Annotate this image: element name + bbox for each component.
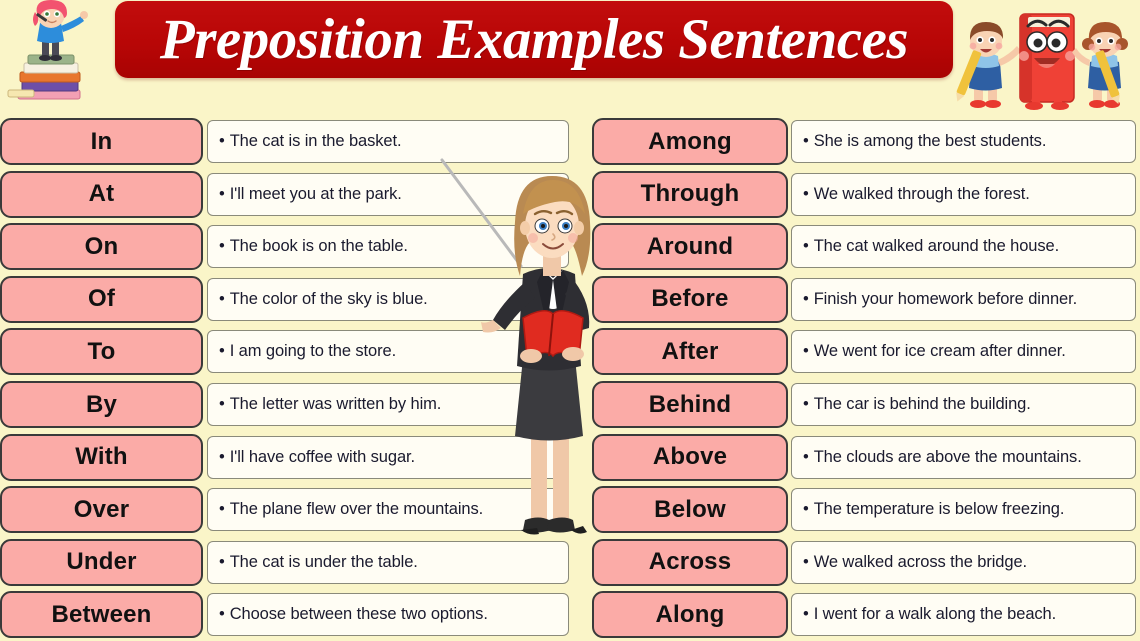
preposition-chip-after[interactable]: After — [592, 328, 788, 375]
preposition-chip-across[interactable]: Across — [592, 539, 788, 586]
example-box: •We walked across the bridge. — [791, 541, 1136, 584]
preposition-row: Before•Finish your homework before dinne… — [570, 276, 1140, 323]
preposition-label: Below — [654, 496, 726, 524]
preposition-chip-under[interactable]: Under — [0, 539, 203, 586]
kid-on-books-icon — [4, 2, 116, 112]
book-mascot-with-kids-icon — [952, 0, 1140, 112]
example-sentence-text: The cat is in the basket. — [230, 132, 402, 150]
preposition-row: To•I am going to the store. — [0, 328, 570, 375]
preposition-label: By — [86, 391, 117, 419]
example-sentence-text: We walked across the bridge. — [814, 553, 1027, 571]
bullet-icon: • — [803, 553, 809, 571]
preposition-label: Before — [651, 285, 728, 313]
example-sentence: •The letter was written by him. — [208, 395, 441, 414]
preposition-chip-at[interactable]: At — [0, 171, 203, 218]
bullet-icon: • — [219, 605, 225, 623]
example-sentence: •Choose between these two options. — [208, 605, 488, 624]
example-sentence-text: I'll have coffee with sugar. — [230, 448, 415, 466]
example-sentence-text: The temperature is below freezing. — [814, 500, 1065, 518]
bullet-icon: • — [803, 132, 809, 150]
example-sentence-text: I went for a walk along the beach. — [814, 605, 1056, 623]
title-banner: Preposition Examples Sentences — [115, 1, 953, 78]
example-box: •The cat is in the basket. — [207, 120, 569, 163]
bullet-icon: • — [219, 448, 225, 466]
preposition-label: On — [85, 233, 119, 261]
bullet-icon: • — [803, 237, 809, 255]
example-box: •The cat is under the table. — [207, 541, 569, 584]
example-sentence-text: I am going to the store. — [230, 342, 396, 360]
preposition-row: On•The book is on the table. — [0, 223, 570, 270]
preposition-chip-to[interactable]: To — [0, 328, 203, 375]
example-sentence: •The color of the sky is blue. — [208, 290, 428, 309]
preposition-row: By•The letter was written by him. — [0, 381, 570, 428]
bullet-icon: • — [219, 132, 225, 150]
example-sentence: •I am going to the store. — [208, 342, 396, 361]
preposition-label: After — [661, 338, 718, 366]
preposition-label: At — [89, 180, 115, 208]
bullet-icon: • — [803, 500, 809, 518]
preposition-label: Along — [656, 601, 725, 629]
preposition-label: With — [75, 443, 128, 471]
example-box: •The letter was written by him. — [207, 383, 569, 426]
example-sentence-text: We went for ice cream after dinner. — [814, 342, 1066, 360]
bullet-icon: • — [803, 448, 809, 466]
preposition-chip-on[interactable]: On — [0, 223, 203, 270]
preposition-label: Between — [51, 601, 151, 629]
preposition-row: Through•We walked through the forest. — [570, 171, 1140, 218]
example-sentence-text: The cat walked around the house. — [814, 237, 1059, 255]
example-sentence: •The cat is in the basket. — [208, 132, 401, 151]
example-sentence-text: The plane flew over the mountains. — [230, 500, 483, 518]
preposition-chip-above[interactable]: Above — [592, 434, 788, 481]
preposition-chip-along[interactable]: Along — [592, 591, 788, 638]
bullet-icon: • — [219, 395, 225, 413]
preposition-chip-around[interactable]: Around — [592, 223, 788, 270]
bullet-icon: • — [803, 605, 809, 623]
example-sentence: •I went for a walk along the beach. — [792, 605, 1056, 624]
page-title: Preposition Examples Sentences — [160, 7, 908, 72]
example-box: •I'll have coffee with sugar. — [207, 436, 569, 479]
example-box: •Choose between these two options. — [207, 593, 569, 636]
preposition-label: Around — [647, 233, 734, 261]
preposition-chip-through[interactable]: Through — [592, 171, 788, 218]
example-sentence-text: Finish your homework before dinner. — [814, 290, 1077, 308]
example-box: •The book is on the table. — [207, 225, 569, 268]
preposition-label: Through — [641, 180, 740, 208]
preposition-row: Around•The cat walked around the house. — [570, 223, 1140, 270]
example-sentence-text: I'll meet you at the park. — [230, 185, 402, 203]
preposition-row: Below•The temperature is below freezing. — [570, 486, 1140, 533]
example-sentence-text: The letter was written by him. — [230, 395, 442, 413]
example-box: •She is among the best students. — [791, 120, 1136, 163]
preposition-label: Behind — [649, 391, 732, 419]
example-sentence: •The car is behind the building. — [792, 395, 1031, 414]
bullet-icon: • — [219, 553, 225, 571]
preposition-row: Along•I went for a walk along the beach. — [570, 591, 1140, 638]
example-box: •We walked through the forest. — [791, 173, 1136, 216]
preposition-row: After•We went for ice cream after dinner… — [570, 328, 1140, 375]
example-box: •I am going to the store. — [207, 330, 569, 373]
preposition-row: Above•The clouds are above the mountains… — [570, 434, 1140, 481]
preposition-row: Over•The plane flew over the mountains. — [0, 486, 570, 533]
left-column: In•The cat is in the basket.At•I'll meet… — [0, 112, 570, 641]
preposition-row: Of•The color of the sky is blue. — [0, 276, 570, 323]
example-box: •I went for a walk along the beach. — [791, 593, 1136, 636]
example-box: •The color of the sky is blue. — [207, 278, 569, 321]
preposition-chip-in[interactable]: In — [0, 118, 203, 165]
example-sentence: •The cat walked around the house. — [792, 237, 1059, 256]
preposition-row: Under•The cat is under the table. — [0, 539, 570, 586]
bullet-icon: • — [219, 237, 225, 255]
preposition-chip-below[interactable]: Below — [592, 486, 788, 533]
example-box: •The car is behind the building. — [791, 383, 1136, 426]
bullet-icon: • — [803, 290, 809, 308]
preposition-label: In — [91, 128, 113, 156]
example-sentence: •She is among the best students. — [792, 132, 1046, 151]
preposition-label: Under — [66, 548, 136, 576]
preposition-row: Among•She is among the best students. — [570, 118, 1140, 165]
preposition-chip-of[interactable]: Of — [0, 276, 203, 323]
example-sentence-text: The clouds are above the mountains. — [814, 448, 1082, 466]
example-box: •The temperature is below freezing. — [791, 488, 1136, 531]
example-sentence: •The clouds are above the mountains. — [792, 448, 1082, 467]
example-sentence-text: Choose between these two options. — [230, 605, 488, 623]
example-sentence-text: We walked through the forest. — [814, 185, 1030, 203]
example-sentence-text: The book is on the table. — [230, 237, 408, 255]
preposition-chip-by[interactable]: By — [0, 381, 203, 428]
preposition-row: Across•We walked across the bridge. — [570, 539, 1140, 586]
preposition-chip-before[interactable]: Before — [592, 276, 788, 323]
preposition-label: Across — [649, 548, 732, 576]
bullet-icon: • — [219, 290, 225, 308]
example-sentence: •The plane flew over the mountains. — [208, 500, 483, 519]
bullet-icon: • — [803, 395, 809, 413]
preposition-label: Over — [74, 496, 130, 524]
preposition-chip-behind[interactable]: Behind — [592, 381, 788, 428]
example-sentence-text: The car is behind the building. — [814, 395, 1031, 413]
bullet-icon: • — [803, 185, 809, 203]
preposition-row: Between•Choose between these two options… — [0, 591, 570, 638]
page-header: Preposition Examples Sentences — [0, 0, 1140, 112]
example-sentence-text: She is among the best students. — [814, 132, 1047, 150]
example-box: •The cat walked around the house. — [791, 225, 1136, 268]
bullet-icon: • — [803, 342, 809, 360]
preposition-board: In•The cat is in the basket.At•I'll meet… — [0, 112, 1140, 641]
preposition-row: In•The cat is in the basket. — [0, 118, 570, 165]
right-column: Among•She is among the best students.Thr… — [570, 112, 1140, 641]
example-sentence: •The temperature is below freezing. — [792, 500, 1064, 519]
example-sentence: •We went for ice cream after dinner. — [792, 342, 1066, 361]
example-sentence-text: The cat is under the table. — [230, 553, 418, 571]
example-sentence: •We walked across the bridge. — [792, 553, 1027, 572]
preposition-chip-between[interactable]: Between — [0, 591, 203, 638]
bullet-icon: • — [219, 500, 225, 518]
preposition-row: Behind•The car is behind the building. — [570, 381, 1140, 428]
example-sentence: •We walked through the forest. — [792, 185, 1030, 204]
example-box: •I'll meet you at the park. — [207, 173, 569, 216]
bullet-icon: • — [219, 342, 225, 360]
example-box: •We went for ice cream after dinner. — [791, 330, 1136, 373]
example-sentence: •The cat is under the table. — [208, 553, 418, 572]
preposition-label: Of — [88, 285, 115, 313]
preposition-row: At•I'll meet you at the park. — [0, 171, 570, 218]
example-sentence: •I'll have coffee with sugar. — [208, 448, 415, 467]
example-sentence-text: The color of the sky is blue. — [230, 290, 428, 308]
preposition-label: Above — [653, 443, 727, 471]
example-sentence: •The book is on the table. — [208, 237, 408, 256]
preposition-label: To — [88, 338, 116, 366]
example-box: •Finish your homework before dinner. — [791, 278, 1136, 321]
preposition-chip-among[interactable]: Among — [592, 118, 788, 165]
bullet-icon: • — [219, 185, 225, 203]
example-sentence: •Finish your homework before dinner. — [792, 290, 1077, 309]
preposition-chip-with[interactable]: With — [0, 434, 203, 481]
example-sentence: •I'll meet you at the park. — [208, 185, 402, 204]
preposition-chip-over[interactable]: Over — [0, 486, 203, 533]
preposition-label: Among — [648, 128, 732, 156]
example-box: •The plane flew over the mountains. — [207, 488, 569, 531]
example-box: •The clouds are above the mountains. — [791, 436, 1136, 479]
preposition-row: With•I'll have coffee with sugar. — [0, 434, 570, 481]
